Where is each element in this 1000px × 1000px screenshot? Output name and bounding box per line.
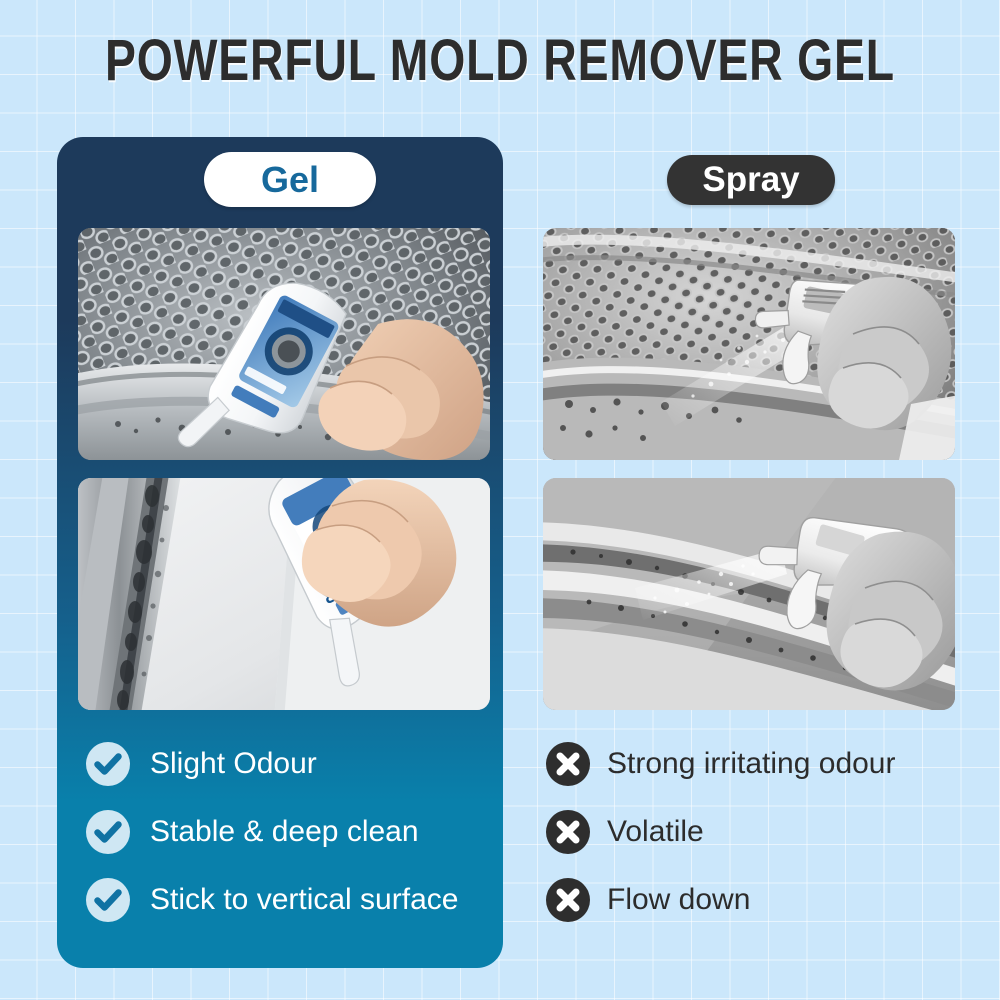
photo-gel-applied-to-washing-machine-drum — [78, 228, 490, 460]
check-icon — [86, 878, 130, 922]
cross-icon — [546, 878, 590, 922]
gel-feature-list: Slight Odour Stable & deep clean Stick t… — [86, 730, 496, 934]
list-item-label: Stable & deep clean — [150, 815, 419, 849]
spray-feature-list: Strong irritating odour Volatile Flow do… — [546, 730, 966, 934]
photo-gel-applied-to-door-seal: CLEANER — [78, 478, 490, 710]
check-icon — [86, 810, 130, 854]
gel-badge-label: Gel — [261, 159, 319, 201]
cross-icon — [546, 742, 590, 786]
gel-badge[interactable]: Gel — [204, 152, 376, 207]
spray-badge-label: Spray — [702, 160, 799, 200]
spray-badge[interactable]: Spray — [667, 155, 835, 205]
infographic-canvas: POWERFUL MOLD REMOVER GEL Gel Spray — [0, 0, 1000, 1000]
photo-spray-on-door-seal — [543, 478, 955, 710]
list-item-label: Slight Odour — [150, 747, 317, 781]
list-item-label: Flow down — [607, 883, 750, 917]
list-item-label: Stick to vertical surface — [150, 883, 458, 917]
list-item: Flow down — [546, 866, 966, 934]
list-item-label: Strong irritating odour — [607, 747, 896, 781]
list-item: Stick to vertical surface — [86, 866, 496, 934]
cross-icon — [546, 810, 590, 854]
page-title: POWERFUL MOLD REMOVER GEL — [100, 30, 900, 92]
list-item-label: Volatile — [607, 815, 704, 849]
list-item: Slight Odour — [86, 730, 496, 798]
list-item: Strong irritating odour — [546, 730, 966, 798]
list-item: Volatile — [546, 798, 966, 866]
photo-spray-on-washing-machine-drum — [543, 228, 955, 460]
check-icon — [86, 742, 130, 786]
list-item: Stable & deep clean — [86, 798, 496, 866]
